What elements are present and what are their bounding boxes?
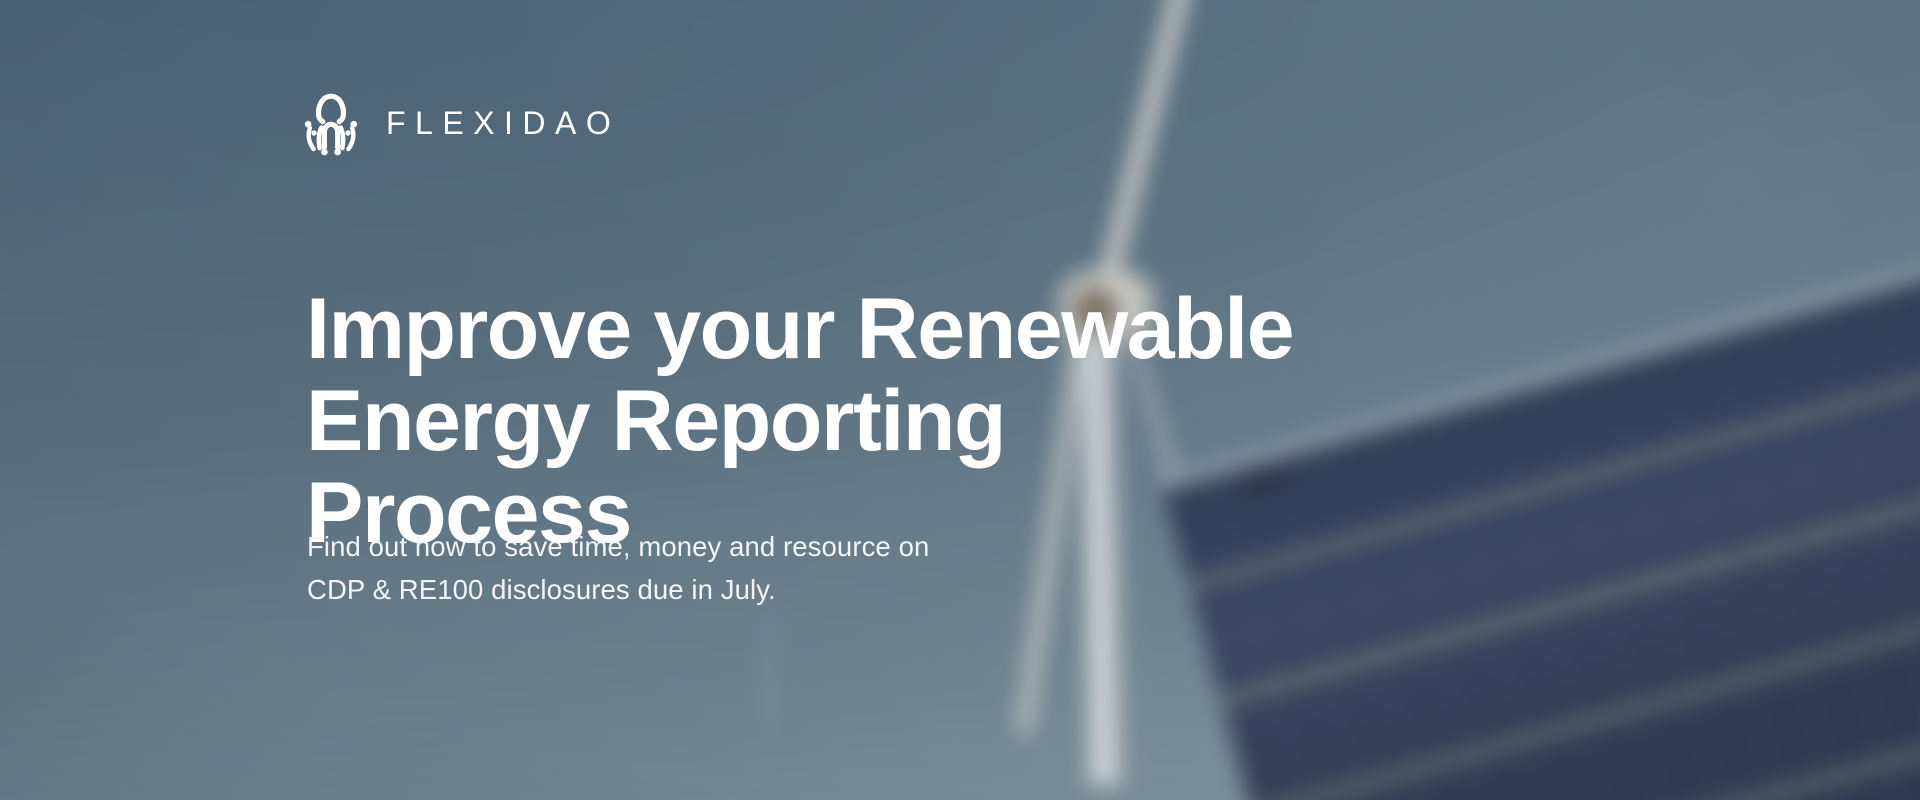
hero-banner: FLEXIDAO Improve your Renewable Energy R… xyxy=(0,0,1920,800)
brand-wordmark: FLEXIDAO xyxy=(386,105,620,139)
hero-subheadline: Find out how to save time, money and res… xyxy=(307,525,1147,611)
hero-headline: Improve your Renewable Energy Reporting … xyxy=(306,283,1326,559)
hero-content: FLEXIDAO Improve your Renewable Energy R… xyxy=(0,0,1920,800)
brand-logo[interactable]: FLEXIDAO xyxy=(300,88,620,156)
octopus-logo-icon xyxy=(300,88,362,156)
